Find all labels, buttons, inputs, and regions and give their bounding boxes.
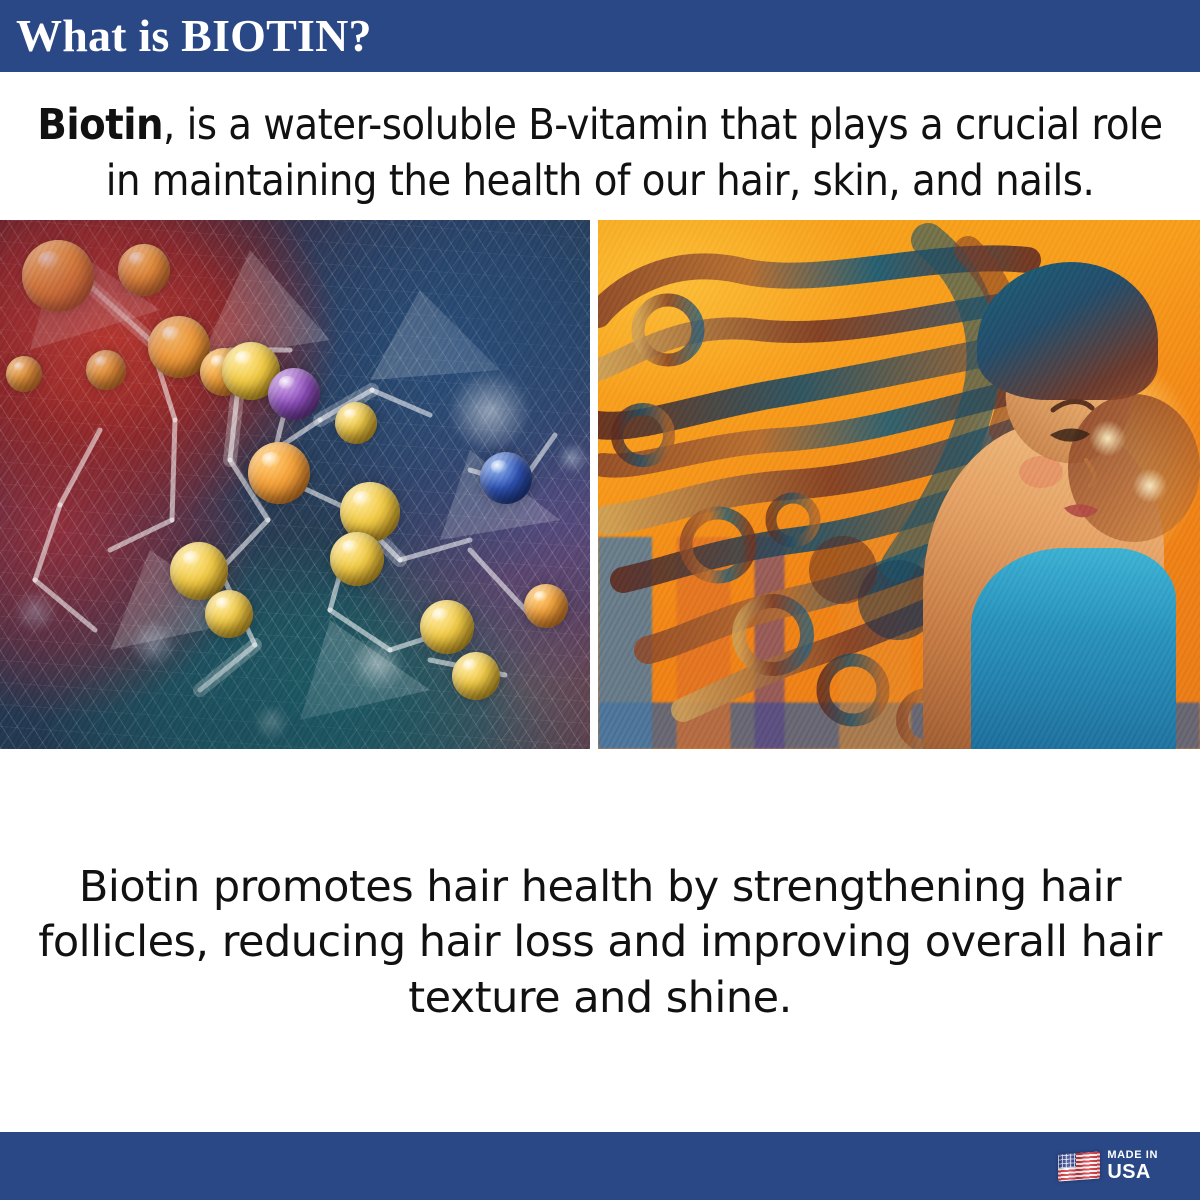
- atom-sphere: [420, 600, 474, 654]
- usa-label: USA: [1107, 1162, 1158, 1182]
- molecule-image: [0, 220, 590, 749]
- atom-sphere: [6, 356, 42, 392]
- atom-sphere: [22, 240, 94, 312]
- intro-paragraph: Biotin, is a water-soluble B-vitamin tha…: [34, 98, 1166, 210]
- image-strip: [0, 220, 1200, 749]
- page-title: What is BIOTIN?: [16, 13, 372, 59]
- outro-paragraph: Biotin promotes hair health by strengthe…: [30, 860, 1170, 1028]
- atom-sphere: [524, 584, 568, 628]
- intro-text-block: Biotin, is a water-soluble B-vitamin tha…: [0, 72, 1200, 220]
- biotin-infographic: What is BIOTIN? Biotin, is a water-solub…: [0, 0, 1200, 1200]
- intro-lead-word: Biotin: [37, 100, 163, 150]
- woman-face-details-svg: [598, 220, 1200, 749]
- usa-flag-icon: [1058, 1151, 1100, 1181]
- atom-sphere: [330, 532, 384, 586]
- atom-sphere: [205, 590, 253, 638]
- made-in-usa-text: MADE IN USA: [1107, 1150, 1158, 1182]
- atom-sphere: [452, 652, 500, 700]
- intro-body-text: , is a water-soluble B-vitamin that play…: [106, 100, 1163, 206]
- atom-sphere: [268, 368, 320, 420]
- made-in-usa-badge: MADE IN USA: [1058, 1150, 1158, 1182]
- hair-image: [598, 220, 1200, 749]
- atom-sphere: [86, 350, 126, 390]
- atom-sphere: [248, 442, 310, 504]
- footer-bar: MADE IN USA: [0, 1132, 1200, 1200]
- flag-wave-shading: [1058, 1151, 1100, 1181]
- made-in-label: MADE IN: [1107, 1150, 1158, 1161]
- atom-sphere: [118, 244, 170, 296]
- atom-sphere: [335, 402, 377, 444]
- outro-text-block: Biotin promotes hair health by strengthe…: [0, 749, 1200, 1132]
- atom-sphere: [480, 452, 532, 504]
- header-bar: What is BIOTIN?: [0, 0, 1200, 72]
